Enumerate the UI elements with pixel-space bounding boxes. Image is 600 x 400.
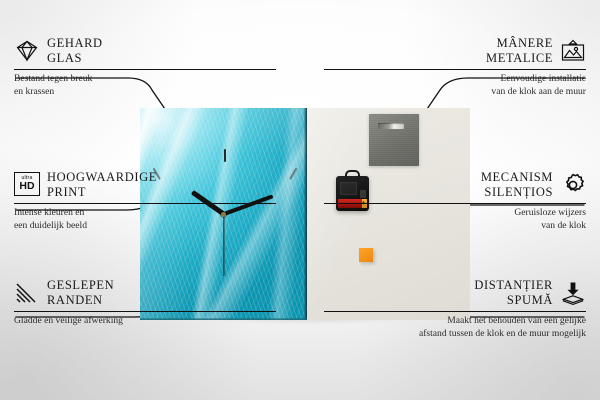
plate-hanger-slot: [378, 123, 404, 129]
feature-subtitle-line1: Eenvoudige installatie: [500, 73, 586, 84]
feature-title-line1: GESLEPEN: [47, 278, 114, 292]
feature-gehard-glas: GEHARD GLAS Bestand tegen breuk en krass…: [14, 36, 276, 98]
diamond-icon: [14, 38, 40, 64]
clock-tick-12: [224, 149, 226, 162]
feature-manere-metalice: MÂNERE METALICE Eenvoudige installatie v…: [324, 36, 586, 98]
metal-hanger-plate: [369, 114, 419, 166]
feature-divider: [324, 311, 586, 312]
feature-subtitle-line2: van de klok aan de muur: [491, 86, 586, 97]
foam-spacer: [359, 248, 373, 262]
feature-divider: [324, 69, 586, 70]
feature-title-line1: MECANISM: [481, 170, 553, 184]
feature-divider: [14, 203, 276, 204]
feature-title-line2: SILENȚIOS: [484, 185, 553, 199]
feature-head: DISTANȚIER SPUMĂ: [324, 278, 586, 308]
infographic-stage: + GEHARD GLAS Bestand tegen b: [0, 0, 600, 400]
feature-title-line2: PRINT: [47, 185, 86, 199]
feature-title-line2: METALICE: [486, 51, 553, 65]
spacer-stack-icon: [560, 280, 586, 306]
clock-tick-1: [289, 168, 297, 180]
feature-subtitle-line1: Maakt het behouden van een gelijke: [447, 315, 586, 326]
feature-head: MECANISM SILENȚIOS: [324, 170, 586, 200]
feature-title-line1: GEHARD: [47, 36, 103, 50]
feature-head: MÂNERE METALICE: [324, 36, 586, 66]
feature-subtitle-line1: Gladde en veilige afwerking: [14, 315, 123, 326]
feature-subtitle-line1: Bestand tegen breuk: [14, 73, 92, 84]
feature-geslepen-randen: GESLEPEN RANDEN Gladde en veilige afwerk…: [14, 278, 276, 328]
feature-hoogwaardige-print: ultra HD HOOGWAARDIGE PRINT Intense kleu…: [14, 170, 276, 232]
feature-subtitle-line2: van de klok: [541, 220, 586, 231]
feature-distantier-spuma: DISTANȚIER SPUMĂ Maakt het behouden van …: [324, 278, 586, 340]
feature-divider: [324, 203, 586, 204]
feature-title-line1: MÂNERE: [497, 36, 553, 50]
plate-grain: [369, 114, 419, 166]
gear-icon: [560, 172, 586, 198]
feature-subtitle-line2: afstand tussen de klok en de muur mogeli…: [419, 328, 586, 339]
ultra-hd-icon: ultra HD: [14, 172, 40, 198]
ultra-hd-icon-main-text: HD: [19, 181, 34, 192]
feature-subtitle-line2: en krassen: [14, 86, 54, 97]
feature-head: ultra HD HOOGWAARDIGE PRINT: [14, 170, 276, 200]
feature-title-line1: HOOGWAARDIGE: [47, 170, 157, 184]
feature-title-line2: SPUMĂ: [507, 293, 553, 307]
feature-head: GEHARD GLAS: [14, 36, 276, 66]
feature-head: GESLEPEN RANDEN: [14, 278, 276, 308]
feature-divider: [14, 69, 276, 70]
feature-mecanism-silentios: MECANISM SILENȚIOS Geruisloze wijzers va…: [324, 170, 586, 232]
picture-frame-icon: [560, 38, 586, 64]
feature-title-line2: GLAS: [47, 51, 82, 65]
feature-subtitle-line1: Intense kleuren en: [14, 207, 84, 218]
feature-title-line2: RANDEN: [47, 293, 103, 307]
feature-subtitle-line1: Geruisloze wijzers: [514, 207, 586, 218]
feature-title-line1: DISTANȚIER: [474, 278, 553, 292]
beveled-edges-icon: [14, 280, 40, 306]
feature-divider: [14, 311, 276, 312]
feature-subtitle-line2: een duidelijk beeld: [14, 220, 87, 231]
